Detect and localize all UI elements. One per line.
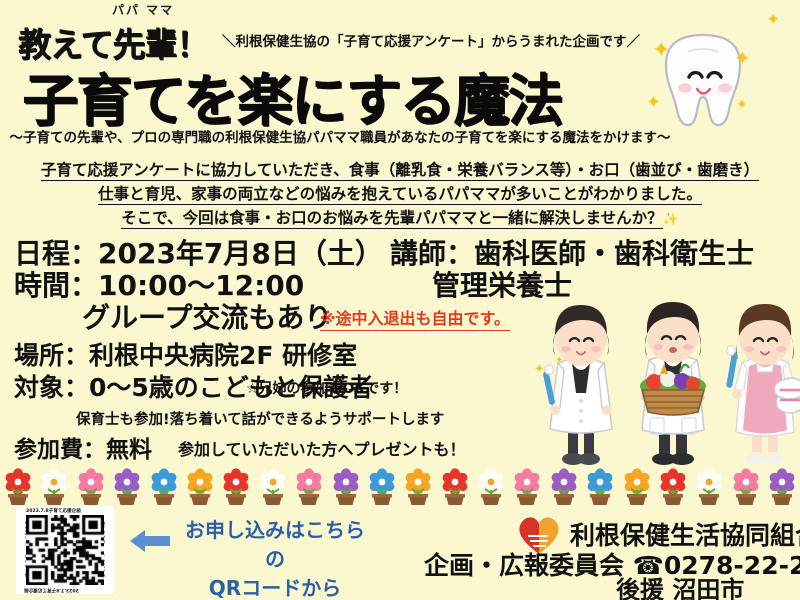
ruby-annotation: パパ ママ: [112, 1, 174, 18]
tooth-mascot-icon: ✦ ✦ ✦ ✦: [648, 28, 758, 132]
flower-pot: [328, 468, 364, 508]
sparkle-icon: ✦: [734, 48, 751, 68]
svg-text:✦: ✦: [555, 355, 563, 366]
hygienist-figure: [716, 296, 800, 472]
left-arrow-icon: [128, 528, 172, 554]
flower-pot: [655, 468, 691, 508]
qr-matrix: [26, 515, 104, 585]
flower-pot: [0, 468, 36, 508]
flower-pot: [728, 468, 764, 508]
event-group-note: グループ交流もあり: [82, 296, 332, 336]
sparkle-icon: ✦: [736, 98, 748, 112]
body-line: 仕事と育児、家事の両立などの悩みを抱えているパパママが多いことがわかりました。: [0, 182, 800, 206]
body-line: そこで、今回は食事・お口のお悩みを先輩パパママと一緒に解決しませんか？✨: [0, 206, 800, 232]
qr-border-text-bottom: 2023.7.8子育て応援企画: [24, 587, 79, 593]
flower-pot: [764, 468, 800, 508]
flower-pot: [36, 468, 72, 508]
qr-border-text-top: 2023.7.8子育て応援企画: [26, 508, 81, 514]
present-note: 参加していただいた方へプレゼントも！: [178, 436, 466, 460]
flower-pot: [546, 468, 582, 508]
flower-pot: [400, 468, 436, 508]
dentist-figure: ✦ ✦: [532, 297, 624, 472]
flower-pot: [109, 468, 145, 508]
page-title: 子育てを楽にする魔法: [22, 56, 561, 137]
flyer-canvas: パパ ママ 教えて先輩！ ＼利根保健生協の「子育て応援アンケート」からうまれた企…: [0, 0, 800, 600]
body-line: 子育て応援アンケートに協力していただき、食事（離乳食・栄養バランス等）・お口（歯…: [0, 158, 800, 182]
sparkle-icon: ✦: [766, 12, 780, 29]
flower-pot: [509, 468, 545, 508]
svg-text:✦: ✦: [534, 362, 545, 377]
lead-text: 〜子育ての先輩や、プロの専門職の利根保健生協パパママ職員があなたの子育てを楽にす…: [0, 126, 680, 146]
flower-pot: [73, 468, 109, 508]
staff-illustration: ✦ ✦: [520, 292, 800, 472]
qr-code[interactable]: 2023.7.8子育て応援企画 2023.7.8子育て応援企画 申し込みフォーム…: [16, 506, 114, 594]
qr-caption-line2: QRコードから: [180, 574, 370, 600]
qr-caption-line1: お申し込みはこちらの: [180, 516, 370, 574]
flower-pot: [291, 468, 327, 508]
sparkle-icon: ✦: [646, 94, 661, 112]
flower-pot: [255, 468, 291, 508]
flower-pot: [582, 468, 618, 508]
free-entry-note: ※途中入退出も自由です。: [320, 305, 510, 331]
event-place: 場所：利根中央病院2F 研修室: [14, 336, 357, 372]
qr-caption: お申し込みはこちらの QRコードから: [180, 516, 370, 600]
sparkle-icon: ✨: [663, 212, 679, 227]
flower-pot: [364, 468, 400, 508]
flower-pot: [437, 468, 473, 508]
sibling-note: ☆兄姉の参加もOKです！: [246, 378, 407, 398]
body-paragraph: 子育て応援アンケートに協力していただき、食事（離乳食・栄養バランス等）・お口（歯…: [0, 158, 800, 232]
flower-pot: [218, 468, 254, 508]
sparkle-icon: ✦: [652, 40, 670, 62]
flower-pot: [182, 468, 218, 508]
flower-pot: [619, 468, 655, 508]
flower-pot: [473, 468, 509, 508]
org-sponsor: 後援 沼田市: [616, 570, 744, 600]
event-fee: 参加費：無料: [14, 430, 152, 464]
flower-pot: [146, 468, 182, 508]
nursery-note: 保育士も参加!落ち着いて話ができるようサポートします: [76, 408, 444, 429]
flower-decoration-row: [0, 466, 800, 508]
nutritionist-figure: [624, 294, 716, 472]
ribbon-note: ＼利根保健生協の「子育て応援アンケート」からうまれた企画です／: [222, 30, 640, 50]
flower-pot: [691, 468, 727, 508]
